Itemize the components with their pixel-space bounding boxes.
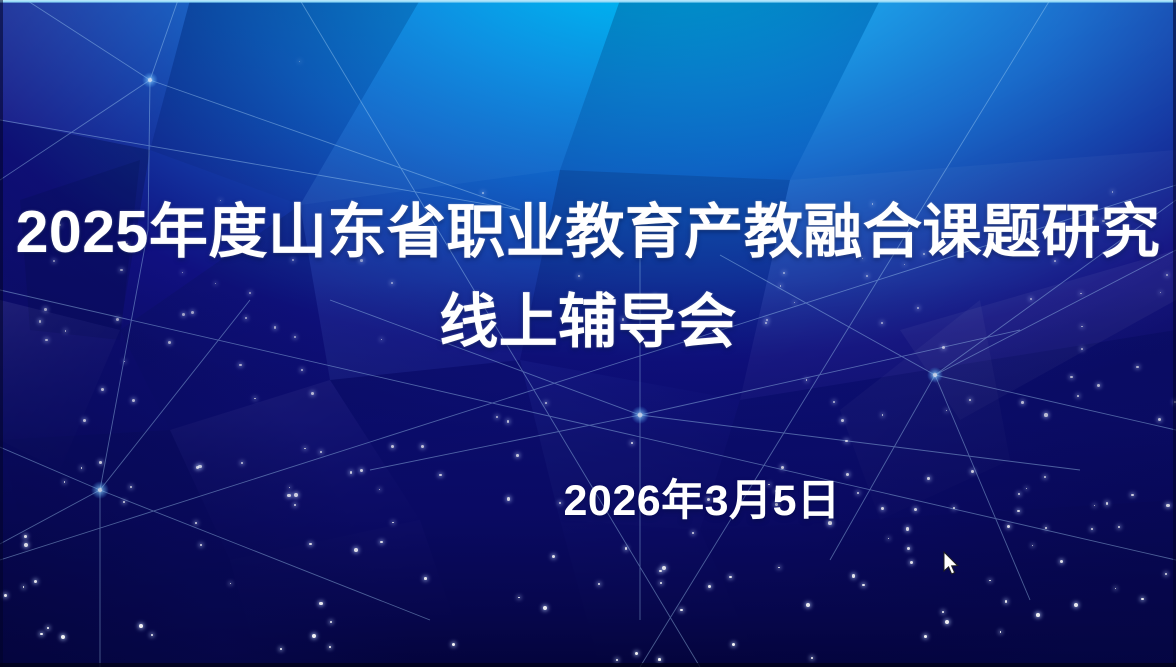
slide-title-line-2: 线上辅导会 — [0, 293, 1176, 352]
presentation-slide: 2025年度山东省职业教育产教融合课题研究 线上辅导会 2026年3月5日 — [0, 0, 1176, 667]
slide-title-block: 2025年度山东省职业教育产教融合课题研究 线上辅导会 — [0, 203, 1176, 352]
slide-title-line-1: 2025年度山东省职业教育产教融合课题研究 — [0, 203, 1176, 262]
slide-content: 2025年度山东省职业教育产教融合课题研究 线上辅导会 2026年3月5日 — [0, 0, 1176, 667]
slide-date: 2026年3月5日 — [0, 480, 1176, 523]
